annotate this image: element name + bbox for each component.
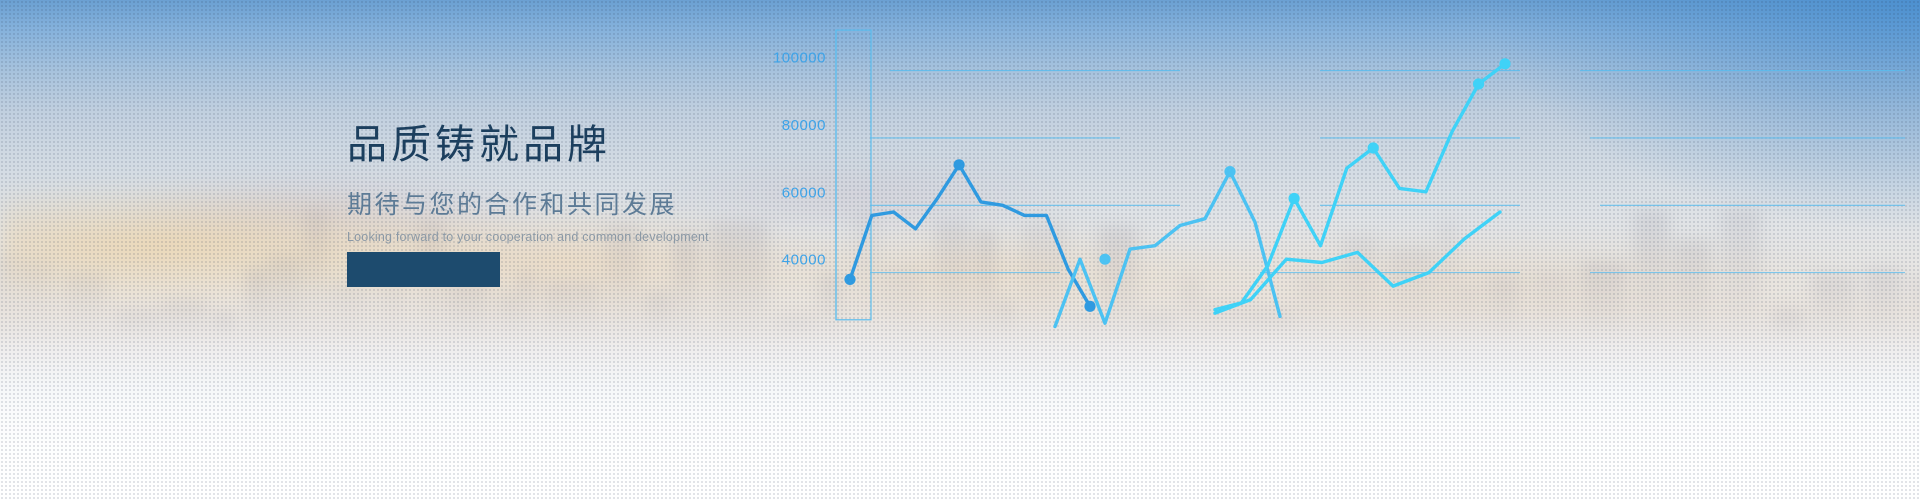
chart-series-lines: [850, 64, 1505, 327]
data-point-marker: [954, 159, 965, 170]
cta-button[interactable]: [347, 252, 500, 287]
data-point-marker: [1499, 58, 1510, 69]
data-point-marker: [1368, 142, 1379, 153]
data-point-marker: [1084, 301, 1095, 312]
data-point-marker: [844, 274, 855, 285]
y-axis-tick-label: 40000: [782, 252, 826, 269]
chart-y-axis-labels: 400006000080000100000: [773, 50, 826, 269]
series-line: [850, 165, 1090, 306]
chart-svg: 400006000080000100000: [760, 0, 1920, 500]
y-axis-tick-label: 80000: [782, 117, 826, 134]
data-point-marker: [1224, 166, 1235, 177]
y-axis-tick-label: 100000: [773, 50, 826, 67]
y-axis-tick-label: 60000: [782, 184, 826, 201]
line-chart: 400006000080000100000: [760, 0, 1920, 500]
hero-banner: 品质铸就品牌 期待与您的合作和共同发展 Looking forward to y…: [0, 0, 1920, 500]
data-point-marker: [1099, 254, 1110, 265]
data-point-marker: [1289, 193, 1300, 204]
data-point-marker: [1473, 78, 1484, 89]
